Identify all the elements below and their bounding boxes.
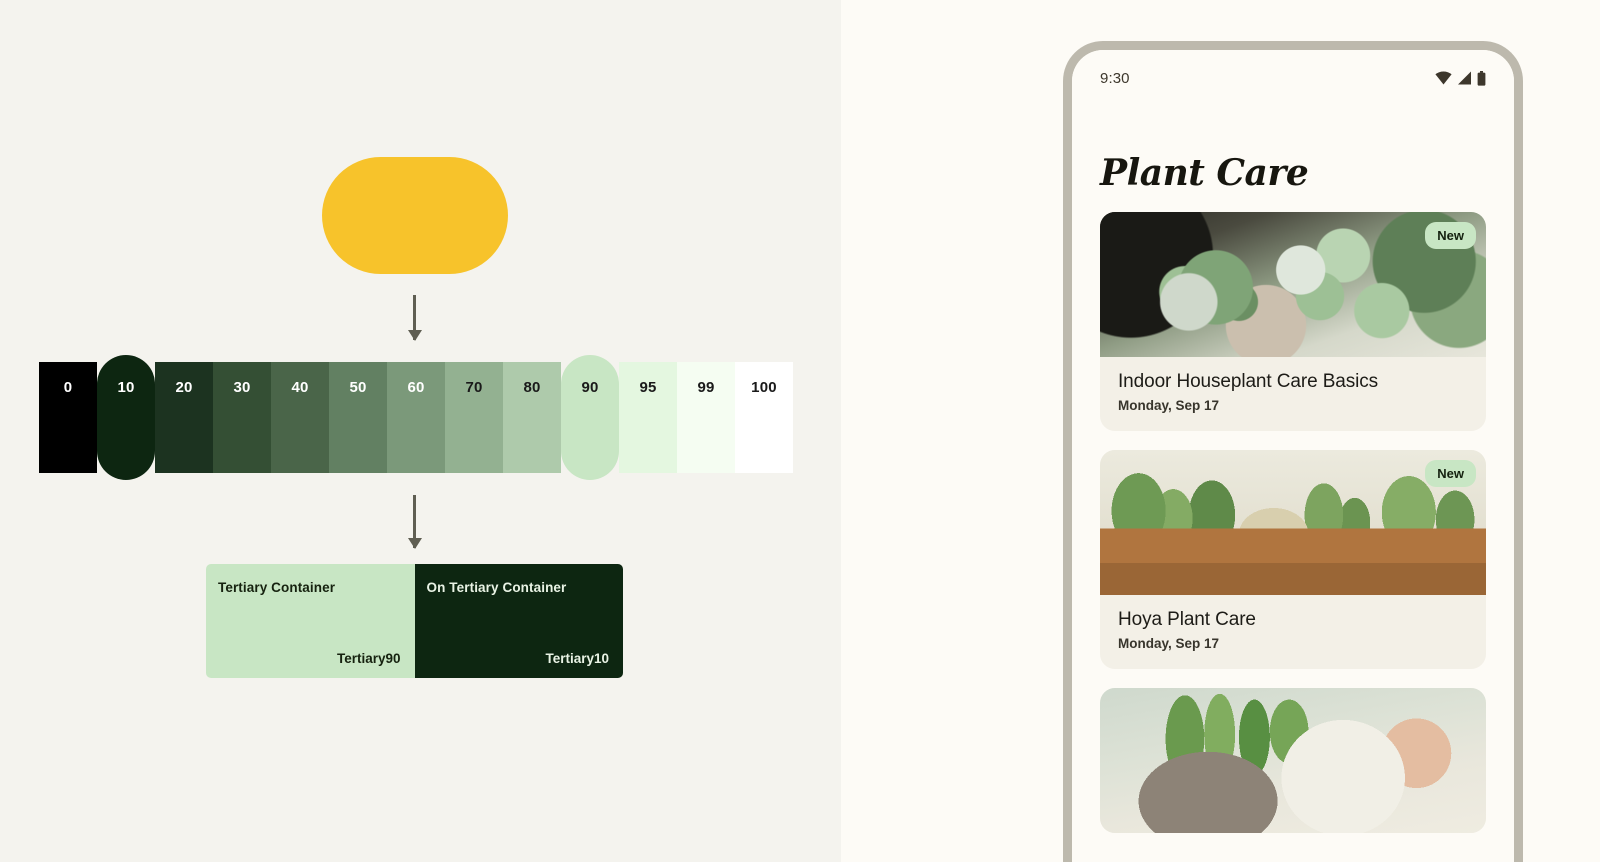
tone-swatch-30[interactable]: 30 <box>213 362 271 473</box>
arrow-down-icon-bottom <box>413 495 416 548</box>
phone-mockup: 9:30 Plant Care <box>1063 41 1523 862</box>
tone-label: 80 <box>503 379 561 396</box>
status-bar: 9:30 <box>1072 50 1514 106</box>
card-image: New <box>1100 450 1486 595</box>
card-photo-watering <box>1100 688 1486 833</box>
status-badge: New <box>1425 460 1476 487</box>
tone-swatch-50[interactable]: 50 <box>329 362 387 473</box>
card-image <box>1100 688 1486 833</box>
card-date: Monday, Sep 17 <box>1118 398 1468 413</box>
cellular-signal-icon <box>1457 71 1472 85</box>
role-box-on-tertiary-container[interactable]: On Tertiary ContainerTertiary10 <box>415 564 624 678</box>
tone-swatch-60[interactable]: 60 <box>387 362 445 473</box>
tone-label: 50 <box>329 379 387 396</box>
tone-label: 10 <box>97 379 155 396</box>
seed-color-swatch <box>322 157 508 274</box>
media-card[interactable]: NewHoya Plant CareMonday, Sep 17 <box>1100 450 1486 669</box>
role-box-tertiary-container[interactable]: Tertiary ContainerTertiary90 <box>206 564 415 678</box>
tertiary-tonal-palette: 01020304050607080909599100 <box>39 362 793 473</box>
media-card[interactable] <box>1100 688 1486 833</box>
battery-icon <box>1477 71 1486 86</box>
tone-label: 0 <box>39 379 97 396</box>
card-title: Hoya Plant Care <box>1118 609 1468 631</box>
tone-label: 30 <box>213 379 271 396</box>
screenshot-root: 01020304050607080909599100 Tertiary Cont… <box>0 0 1600 862</box>
status-time: 9:30 <box>1100 70 1130 87</box>
tone-swatch-0[interactable]: 0 <box>39 362 97 473</box>
card-title: Indoor Houseplant Care Basics <box>1118 371 1468 393</box>
tone-swatch-10[interactable]: 10 <box>97 355 155 480</box>
device-preview-panel: 9:30 Plant Care <box>841 0 1600 862</box>
card-date: Monday, Sep 17 <box>1118 636 1468 651</box>
card-body: Indoor Houseplant Care BasicsMonday, Sep… <box>1100 357 1486 431</box>
tone-swatch-95[interactable]: 95 <box>619 362 677 473</box>
role-title: Tertiary Container <box>218 580 401 595</box>
status-icons <box>1435 71 1486 86</box>
tone-swatch-100[interactable]: 100 <box>735 362 793 473</box>
role-tone-label: Tertiary90 <box>218 651 401 666</box>
tone-label: 95 <box>619 379 677 396</box>
color-scheme-diagram-panel: 01020304050607080909599100 Tertiary Cont… <box>0 0 841 862</box>
tone-swatch-40[interactable]: 40 <box>271 362 329 473</box>
phone-screen: 9:30 Plant Care <box>1072 50 1514 862</box>
arrow-down-icon-top <box>413 295 416 340</box>
tone-swatch-99[interactable]: 99 <box>677 362 735 473</box>
tone-swatch-70[interactable]: 70 <box>445 362 503 473</box>
tone-label: 99 <box>677 379 735 396</box>
media-card[interactable]: NewIndoor Houseplant Care BasicsMonday, … <box>1100 212 1486 431</box>
tone-label: 40 <box>271 379 329 396</box>
tone-label: 20 <box>155 379 213 396</box>
tone-label: 70 <box>445 379 503 396</box>
tone-swatch-90[interactable]: 90 <box>561 355 619 480</box>
status-badge: New <box>1425 222 1476 249</box>
tone-label: 60 <box>387 379 445 396</box>
card-body: Hoya Plant CareMonday, Sep 17 <box>1100 595 1486 669</box>
page-title: Plant Care <box>1072 106 1514 212</box>
tone-label: 100 <box>735 379 793 396</box>
role-tone-label: Tertiary10 <box>427 651 610 666</box>
card-image: New <box>1100 212 1486 357</box>
wifi-icon <box>1435 71 1452 85</box>
card-list: NewIndoor Houseplant Care BasicsMonday, … <box>1072 212 1514 833</box>
role-title: On Tertiary Container <box>427 580 610 595</box>
tone-swatch-20[interactable]: 20 <box>155 362 213 473</box>
tone-label: 90 <box>561 379 619 396</box>
tone-swatch-80[interactable]: 80 <box>503 362 561 473</box>
tertiary-container-role-boxes: Tertiary ContainerTertiary90On Tertiary … <box>206 564 623 678</box>
